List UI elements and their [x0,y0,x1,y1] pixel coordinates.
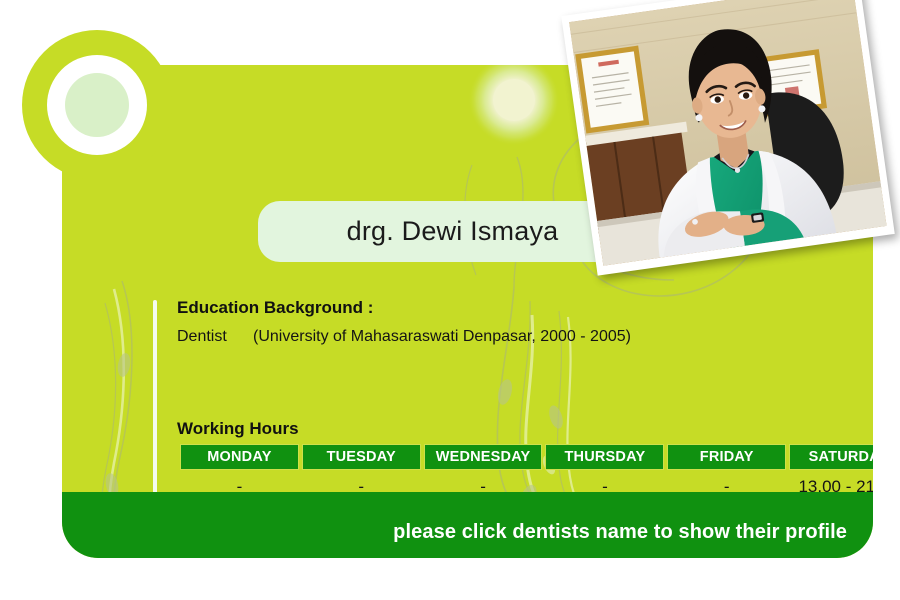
ring-inner [65,73,129,137]
education-entry: Dentist(University of Mahasaraswati Denp… [177,328,631,346]
header-label: SATURDAY [809,449,873,465]
dentist-photo[interactable] [561,0,895,276]
education-institution: (University of Mahasaraswati Denpasar, 2… [253,328,631,345]
table-header-friday: FRIDAY [667,444,786,470]
working-hours-heading: Working Hours [177,419,299,439]
panel-footer: please click dentists name to show their… [62,492,873,558]
table-header-saturday: SATURDAY [789,444,873,470]
page-root: drg. Dewi Ismaya Education Background : … [0,0,900,600]
ring-logo-icon [22,30,172,180]
footer-hint: please click dentists name to show their… [393,521,847,544]
photo-image [569,0,886,266]
portrait-illustration [569,0,886,266]
header-label: WEDNESDAY [436,449,531,465]
header-label: TUESDAY [327,449,396,465]
table-header-row: MONDAY TUESDAY WEDNESDAY THURSDAY FRIDAY… [180,444,873,470]
table-header-thursday: THURSDAY [545,444,664,470]
header-label: MONDAY [207,449,271,465]
table-header-monday: MONDAY [180,444,299,470]
table-header-wednesday: WEDNESDAY [424,444,543,470]
table-header-tuesday: TUESDAY [302,444,421,470]
header-label: FRIDAY [700,449,754,465]
header-label: THURSDAY [564,449,645,465]
dentist-name: drg. Dewi Ismaya [347,216,559,247]
education-heading: Education Background : [177,298,373,318]
education-degree: Dentist [177,328,253,346]
